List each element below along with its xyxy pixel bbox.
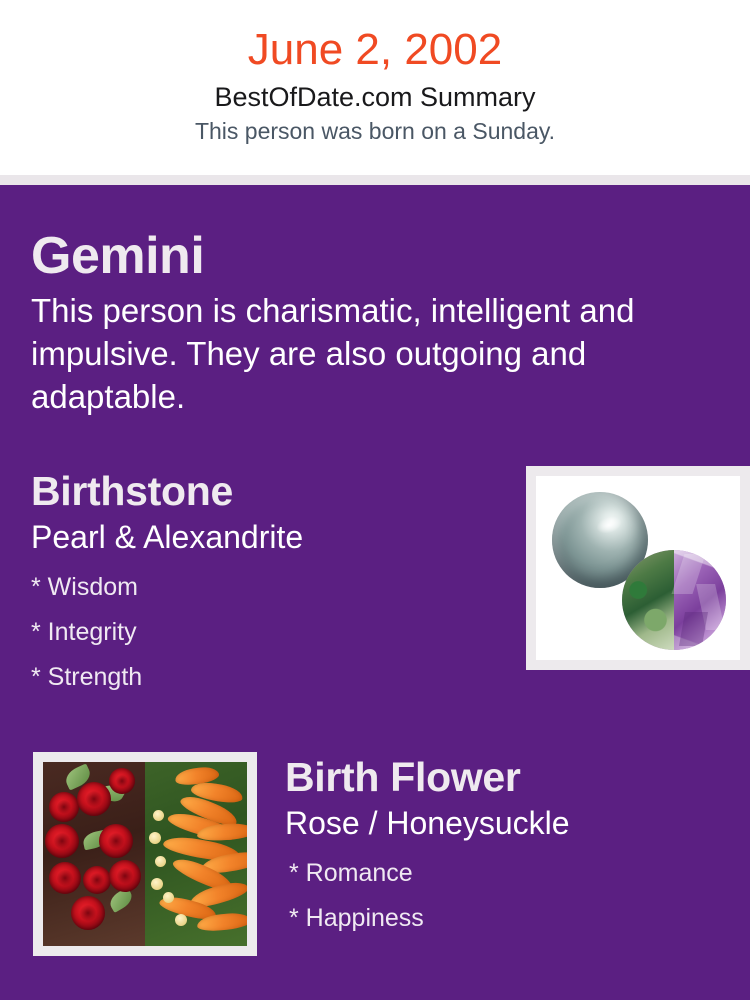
list-item: * Wisdom (31, 565, 516, 610)
rose-icon (71, 896, 105, 930)
card-header: June 2, 2002 BestOfDate.com Summary This… (0, 0, 750, 175)
zodiac-sign-name: Gemini (31, 225, 720, 287)
zodiac-section: Gemini This person is charismatic, intel… (0, 185, 750, 418)
birthstone-section: Birthstone Pearl & Alexandrite * Wisdom … (0, 418, 750, 700)
list-item: * Strength (31, 655, 516, 700)
rose-icon (83, 866, 111, 894)
rose-icon (49, 792, 79, 822)
rose-icon (77, 782, 111, 816)
flower-bud-icon (175, 914, 187, 926)
list-item: * Happiness (289, 896, 750, 941)
rose-icon (45, 824, 79, 858)
flower-bud-icon (163, 892, 174, 903)
birth-weekday-note: This person was born on a Sunday. (0, 116, 750, 146)
alexandrite-gem-icon (622, 550, 726, 650)
birthstone-image (536, 476, 740, 660)
birth-flower-traits: * Romance * Happiness (285, 851, 750, 941)
rose-icon (99, 824, 133, 858)
honeysuckle-photo (145, 762, 247, 946)
header-divider (0, 175, 750, 185)
flower-bud-icon (155, 856, 166, 867)
flower-bud-icon (153, 810, 164, 821)
details-panel: Gemini This person is charismatic, intel… (0, 185, 750, 1000)
birth-flower-image-frame (33, 752, 257, 956)
birthstone-text: Birthstone Pearl & Alexandrite * Wisdom … (31, 466, 516, 700)
birth-flower-names: Rose / Honeysuckle (285, 803, 750, 843)
zodiac-description: This person is charismatic, intelligent … (31, 289, 696, 418)
rose-icon (109, 860, 141, 892)
flower-bud-icon (151, 878, 163, 890)
list-item: * Romance (289, 851, 750, 896)
birth-flower-title: Birth Flower (285, 752, 750, 802)
red-roses-photo (43, 762, 145, 946)
birth-flower-section: Birth Flower Rose / Honeysuckle * Romanc… (0, 700, 750, 956)
birthstone-title: Birthstone (31, 466, 516, 516)
rose-icon (109, 768, 135, 794)
list-item: * Integrity (31, 610, 516, 655)
page-title: June 2, 2002 (0, 22, 750, 78)
birthstone-image-frame (526, 466, 750, 670)
birth-flower-text: Birth Flower Rose / Honeysuckle * Romanc… (257, 752, 750, 941)
site-summary-label: BestOfDate.com Summary (0, 78, 750, 116)
birthstone-traits: * Wisdom * Integrity * Strength (31, 565, 516, 700)
summary-card: June 2, 2002 BestOfDate.com Summary This… (0, 0, 750, 1000)
flower-collage (43, 762, 247, 946)
flower-bud-icon (149, 832, 161, 844)
birthstone-names: Pearl & Alexandrite (31, 517, 516, 557)
birth-flower-image (43, 762, 247, 946)
alexandrite-green-half (622, 550, 676, 650)
rose-icon (49, 862, 81, 894)
